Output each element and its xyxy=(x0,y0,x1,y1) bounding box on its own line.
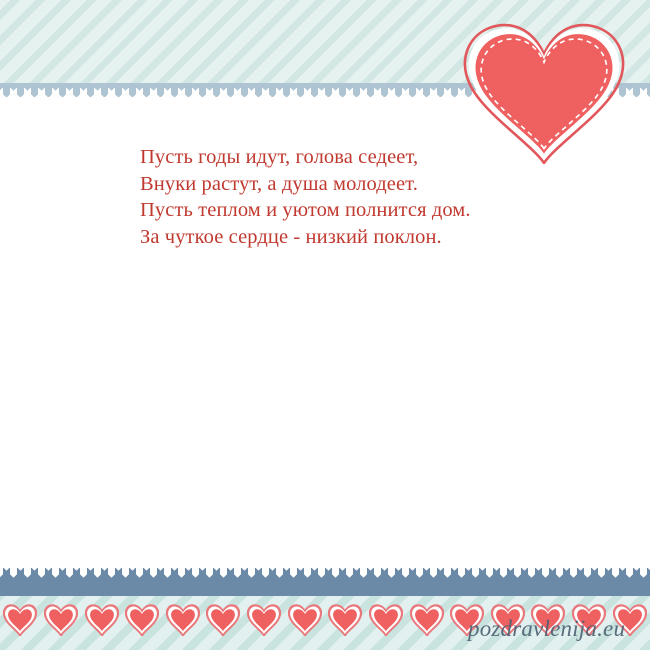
small-heart-icon xyxy=(166,604,200,636)
small-heart-icon xyxy=(125,604,159,636)
small-heart-icon xyxy=(288,604,322,636)
small-heart-icon xyxy=(328,604,362,636)
greeting-card: Пусть годы идут, голова седеет, Внуки ра… xyxy=(0,0,650,650)
small-heart-icon xyxy=(247,604,281,636)
large-heart-icon xyxy=(461,14,627,164)
bottom-blue-band xyxy=(0,580,650,596)
small-heart-icon xyxy=(3,604,37,636)
poem-text: Пусть годы идут, голова седеет, Внуки ра… xyxy=(140,144,570,250)
poem-line-4: За чуткое сердце - низкий поклон. xyxy=(140,224,570,251)
small-heart-icon xyxy=(206,604,240,636)
poem-line-2: Внуки растут, а душа молодеет. xyxy=(140,171,570,198)
small-heart-icon xyxy=(44,604,78,636)
watermark-label: pozdravlenija.eu xyxy=(468,616,625,642)
small-heart-icon xyxy=(85,604,119,636)
small-heart-icon xyxy=(369,604,403,636)
small-heart-icon xyxy=(410,604,444,636)
poem-line-3: Пусть теплом и уютом полнится дом. xyxy=(140,197,570,224)
poem-line-1: Пусть годы идут, голова седеет, xyxy=(140,144,570,171)
